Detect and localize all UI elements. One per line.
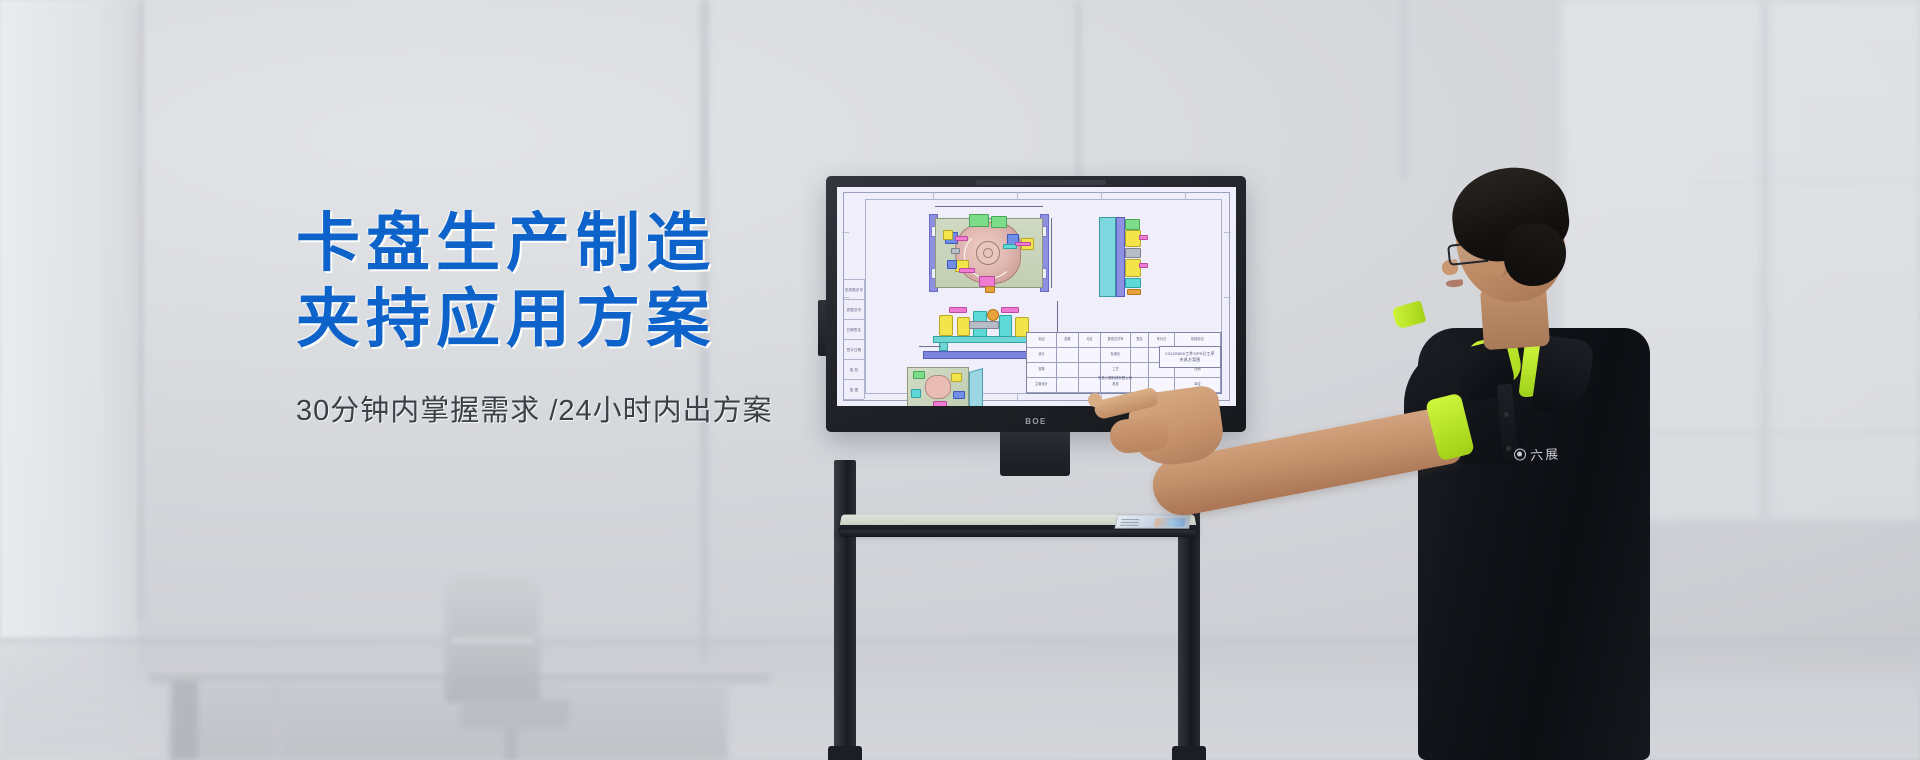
- drawing-tick: [1185, 192, 1186, 199]
- tb-cell: [1079, 348, 1101, 363]
- tb-col-header: 标记: [1027, 333, 1057, 348]
- clamp-cyan: [999, 315, 1012, 337]
- shirt-logo-text: 六展: [1530, 443, 1561, 464]
- office-chair-post: [505, 726, 517, 760]
- drawing-tick: [1224, 232, 1231, 233]
- shelf-document: [1114, 515, 1190, 529]
- clamp-gray: [1125, 248, 1141, 258]
- shirt-button: [1506, 446, 1511, 451]
- clamp-cyan: [1125, 278, 1141, 288]
- clamp-magenta: [955, 236, 968, 241]
- clamp-yellow: [1125, 259, 1141, 277]
- clamp-orange: [1127, 289, 1141, 295]
- workpiece-casting: [955, 222, 1021, 284]
- tb-col-header: 更改文件号: [1101, 333, 1131, 348]
- clamp-yellow: [951, 373, 962, 382]
- cart-shelf-rail: [840, 530, 1196, 537]
- side-plate: [1099, 217, 1116, 297]
- wall-seam-1: [138, 0, 144, 620]
- tb-col-header: 分区: [1079, 333, 1101, 348]
- shirt-embroidered-logo: 六展: [1513, 438, 1584, 468]
- clamp-orange: [985, 286, 995, 293]
- presenter-sleeve-accent: [1392, 300, 1427, 329]
- wall-seam-4: [1400, 0, 1407, 180]
- tb-cell: 校核: [1027, 363, 1057, 378]
- window-mullion: [1760, 0, 1770, 520]
- drawing-title: 夹具方案图: [1180, 357, 1201, 363]
- clamp-green: [991, 216, 1007, 228]
- cart-column-left: [834, 460, 856, 760]
- drawing-tick: [933, 192, 934, 199]
- clamp-gray: [969, 321, 999, 329]
- drawing-tick: [1017, 394, 1018, 401]
- dimension-line-vertical: [1051, 218, 1052, 288]
- headline-line-2: 夹持应用方案: [296, 282, 916, 358]
- desk-leg-left: [172, 680, 198, 760]
- drawing-tick: [1224, 297, 1231, 298]
- clamp-blue: [953, 391, 965, 399]
- hero-copy: 卡盘生产制造 夹持应用方案 30分钟内掌握需求 /24小时内出方案: [296, 206, 916, 429]
- cad-top-view: [929, 212, 1049, 294]
- presenter-knuckles: [1108, 415, 1169, 455]
- drawing-tick: [1017, 192, 1018, 199]
- clamp-magenta: [959, 268, 975, 273]
- wall-seam-3: [1075, 0, 1082, 200]
- clamp-gray: [951, 248, 960, 254]
- cad-right-view: [1099, 217, 1149, 299]
- clamp-magenta: [1139, 235, 1148, 240]
- tb-cell: 设计: [1027, 348, 1057, 363]
- hero-subtitle: 30分钟内掌握需求 /24小时内出方案: [296, 387, 916, 429]
- clamp-magenta: [1139, 263, 1148, 268]
- tb-cell: 主管设计: [1027, 378, 1057, 393]
- dimension-line-horizontal: [935, 206, 1043, 207]
- presenter-lips: [1446, 279, 1464, 287]
- clamp-magenta: [949, 307, 967, 313]
- page-title: 卡盘生产制造 夹持应用方案: [296, 206, 916, 357]
- drawing-tick: [1101, 192, 1102, 199]
- office-chair-lumbar-slot: [452, 638, 534, 643]
- dimension-line-horizontal: [919, 346, 941, 347]
- side-plate-backer: [1116, 217, 1125, 297]
- tb-cell: [1131, 348, 1149, 363]
- hero-banner: 卡盘生产制造 夹持应用方案 30分钟内掌握需求 /24小时内出方案: [0, 0, 1920, 760]
- clamp-orange: [987, 309, 999, 321]
- cart-foot-right: [1172, 746, 1206, 760]
- clamp-green: [1125, 219, 1140, 230]
- clamp-blue: [947, 260, 957, 269]
- tb-col-header: 处数: [1057, 333, 1079, 348]
- iso-workpiece: [925, 375, 951, 399]
- clamp-green: [969, 214, 989, 227]
- tb-col-header: 签名: [1131, 333, 1149, 348]
- clamp-yellow: [943, 230, 953, 240]
- headline-line-1: 卡盘生产制造: [296, 207, 716, 279]
- iso-side-face: [969, 368, 983, 406]
- company-mark-icon: [1514, 448, 1527, 461]
- display-camera-bar: [976, 180, 1106, 185]
- tb-cell: 标准化: [1101, 348, 1131, 363]
- presenter: 六展: [1396, 168, 1696, 760]
- cad-iso-view: [907, 367, 985, 406]
- tb-cell: [1057, 348, 1079, 363]
- clamp-yellow: [939, 315, 953, 336]
- clamp-magenta: [1015, 242, 1031, 246]
- drawing-name-box: 2313S605工件OP5分工序 夹具方案图: [1159, 346, 1221, 368]
- desk-leg-middle: [272, 684, 284, 760]
- casting-small-bore: [983, 248, 993, 258]
- shirt-button: [1504, 412, 1509, 417]
- clamp-magenta: [1001, 307, 1019, 313]
- drawing-company-name: 东莞六展机械有限公司: [1076, 371, 1154, 384]
- cart-foot-left: [828, 746, 862, 760]
- clamp-magenta: [933, 401, 947, 406]
